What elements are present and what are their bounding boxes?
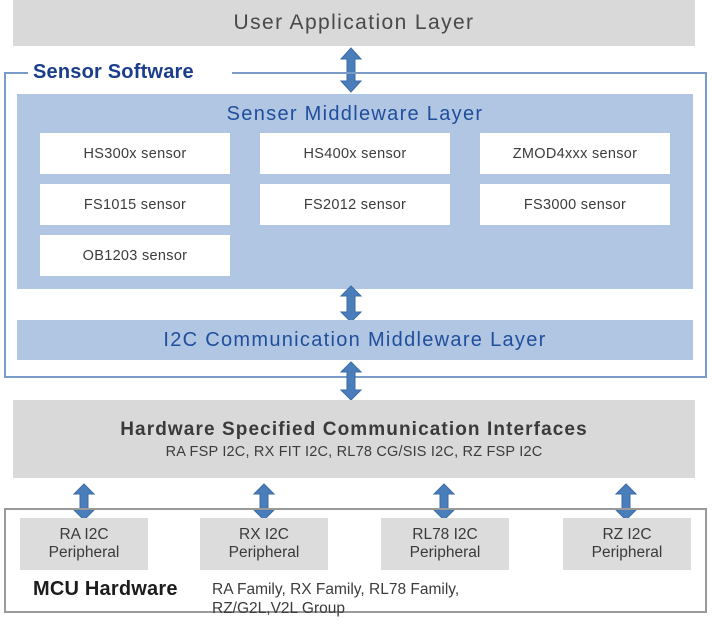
sensor-box-label: FS1015 sensor xyxy=(84,197,186,213)
arrow-hardware-to-ra-peripheral xyxy=(72,483,96,521)
senser-middleware-layer-title: Senser Middleware Layer xyxy=(17,103,693,126)
sensor-box-label: OB1203 sensor xyxy=(83,248,188,264)
arrow-middleware-to-i2c xyxy=(339,285,363,323)
arrow-hardware-to-rx-peripheral xyxy=(252,483,276,521)
mcu-hardware-families-text: RA Family, RX Family, RL78 Family, RZ/G2… xyxy=(212,580,459,619)
hardware-specified-interfaces-title: Hardware Specified Communication Interfa… xyxy=(13,419,695,441)
arrow-i2c-to-hardware xyxy=(339,361,363,401)
i2c-communication-middleware-layer-title: I2C Communication Middleware Layer xyxy=(17,329,693,352)
peripheral-box-line2: Peripheral xyxy=(229,544,300,562)
user-application-layer-title: User Application Layer xyxy=(13,11,695,35)
sensor-box-zmod4xxx[interactable]: ZMOD4xxx sensor xyxy=(480,133,670,174)
peripheral-box-line1: RZ I2C xyxy=(602,526,651,544)
sensor-box-fs3000[interactable]: FS3000 sensor xyxy=(480,184,670,225)
i2c-communication-middleware-layer-band: I2C Communication Middleware Layer xyxy=(17,320,693,360)
hardware-specified-interfaces-subtitle: RA FSP I2C, RX FIT I2C, RL78 CG/SIS I2C,… xyxy=(13,444,695,460)
mcu-hardware-group-label: MCU Hardware xyxy=(33,578,178,601)
hardware-specified-interfaces-band: Hardware Specified Communication Interfa… xyxy=(13,400,695,478)
sensor-box-label: ZMOD4xxx sensor xyxy=(513,146,638,162)
sensor-box-label: HS300x sensor xyxy=(83,146,186,162)
peripheral-box-line1: RL78 I2C xyxy=(412,526,477,544)
sensor-box-label: HS400x sensor xyxy=(303,146,406,162)
peripheral-box-line1: RX I2C xyxy=(239,526,289,544)
sensor-box-label: FS2012 sensor xyxy=(304,197,406,213)
peripheral-box-line2: Peripheral xyxy=(410,544,481,562)
architecture-diagram: User Application Layer Sensor Software S… xyxy=(0,0,712,628)
sensor-box-fs1015[interactable]: FS1015 sensor xyxy=(40,184,230,225)
peripheral-box-line2: Peripheral xyxy=(49,544,120,562)
peripheral-box-line2: Peripheral xyxy=(592,544,663,562)
sensor-box-label: FS3000 sensor xyxy=(524,197,626,213)
peripheral-box-ra-i2c[interactable]: RA I2C Peripheral xyxy=(20,518,148,570)
user-application-layer-band: User Application Layer xyxy=(13,0,695,46)
peripheral-box-rz-i2c[interactable]: RZ I2C Peripheral xyxy=(563,518,691,570)
sensor-box-hs400x[interactable]: HS400x sensor xyxy=(260,133,450,174)
sensor-box-fs2012[interactable]: FS2012 sensor xyxy=(260,184,450,225)
sensor-box-hs300x[interactable]: HS300x sensor xyxy=(40,133,230,174)
arrow-hardware-to-rl78-peripheral xyxy=(432,483,456,521)
sensor-software-group-label: Sensor Software xyxy=(33,61,194,84)
arrow-hardware-to-rz-peripheral xyxy=(614,483,638,521)
sensor-box-ob1203[interactable]: OB1203 sensor xyxy=(40,235,230,276)
peripheral-box-rx-i2c[interactable]: RX I2C Peripheral xyxy=(200,518,328,570)
peripheral-box-line1: RA I2C xyxy=(59,526,108,544)
arrow-app-to-middleware xyxy=(339,47,363,93)
peripheral-box-rl78-i2c[interactable]: RL78 I2C Peripheral xyxy=(381,518,509,570)
